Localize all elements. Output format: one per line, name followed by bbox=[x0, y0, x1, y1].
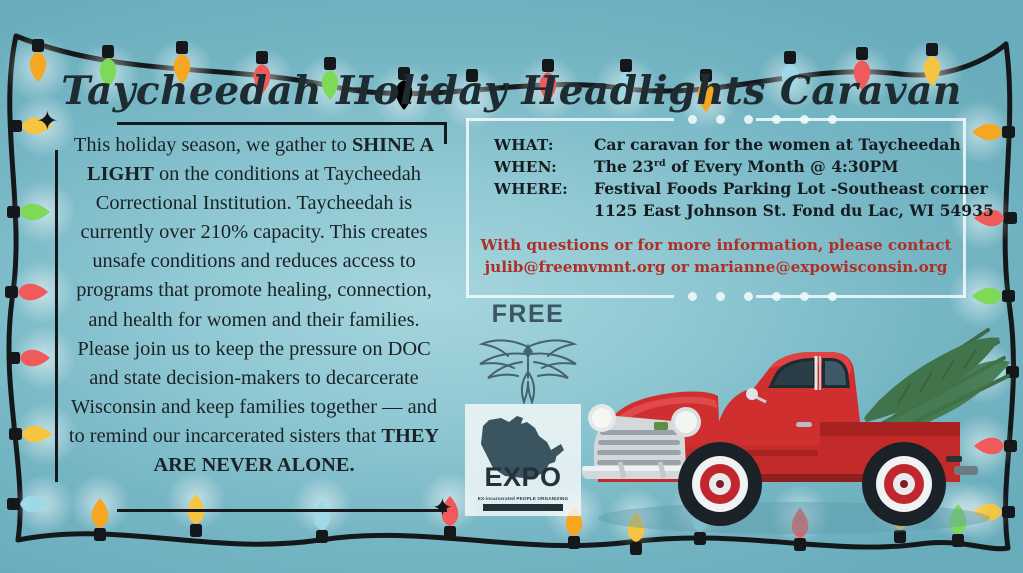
expo-logo-bar bbox=[483, 504, 563, 511]
panel-border-top-left bbox=[466, 118, 674, 121]
mission-statement-text: This holiday season, we gather to SHINE … bbox=[65, 131, 443, 480]
box-border-top bbox=[117, 122, 447, 125]
front-wheel bbox=[678, 442, 762, 526]
contact-info: With questions or for more information, … bbox=[466, 234, 966, 278]
detail-value-where-address: 1125 East Johnson St. Fond du Lac, WI 54… bbox=[594, 201, 994, 220]
rear-wheel bbox=[862, 442, 946, 526]
detail-row-what: WHAT: Car caravan for the women at Taych… bbox=[494, 135, 994, 154]
box-border-left bbox=[55, 150, 58, 482]
event-details-rows: WHAT: Car caravan for the women at Taych… bbox=[494, 135, 994, 220]
truck-illustration bbox=[568, 296, 1020, 546]
detail-value-what: Car caravan for the women at Taycheedah bbox=[594, 135, 961, 154]
expo-logo-text: EXPO bbox=[465, 462, 581, 493]
flyer-canvas: Taycheedah Holiday Headlights Caravan ✦ … bbox=[0, 0, 1023, 573]
detail-label-when: WHEN: bbox=[494, 158, 594, 176]
detail-row-when: WHEN: The 23rd of Every Month @ 4:30PM bbox=[494, 157, 994, 176]
contact-line-1: With questions or for more information, … bbox=[466, 234, 966, 256]
expo-logo: EXPO EX-incarcerated PEOPLE ORGANIZING bbox=[465, 404, 581, 516]
panel-dot-divider-top bbox=[688, 115, 837, 124]
detail-label-what: WHAT: bbox=[494, 136, 594, 154]
detail-row-where: WHERE: Festival Foods Parking Lot -South… bbox=[494, 179, 994, 198]
mission-statement-box: This holiday season, we gather to SHINE … bbox=[55, 122, 447, 512]
detail-value-where: Festival Foods Parking Lot -Southeast co… bbox=[594, 179, 988, 198]
page-title: Taycheedah Holiday Headlights Caravan bbox=[0, 68, 1023, 114]
contact-emails[interactable]: julib@freemvmnt.org or marianne@expowisc… bbox=[466, 256, 966, 278]
detail-value-when: The 23rd of Every Month @ 4:30PM bbox=[594, 157, 898, 176]
expo-logo-tagline: EX-incarcerated PEOPLE ORGANIZING bbox=[465, 496, 581, 501]
detail-label-where: WHERE: bbox=[494, 180, 594, 198]
event-details-panel: WHAT: Car caravan for the women at Taych… bbox=[466, 118, 966, 298]
box-border-right bbox=[444, 122, 447, 144]
box-border-bottom bbox=[117, 509, 447, 512]
